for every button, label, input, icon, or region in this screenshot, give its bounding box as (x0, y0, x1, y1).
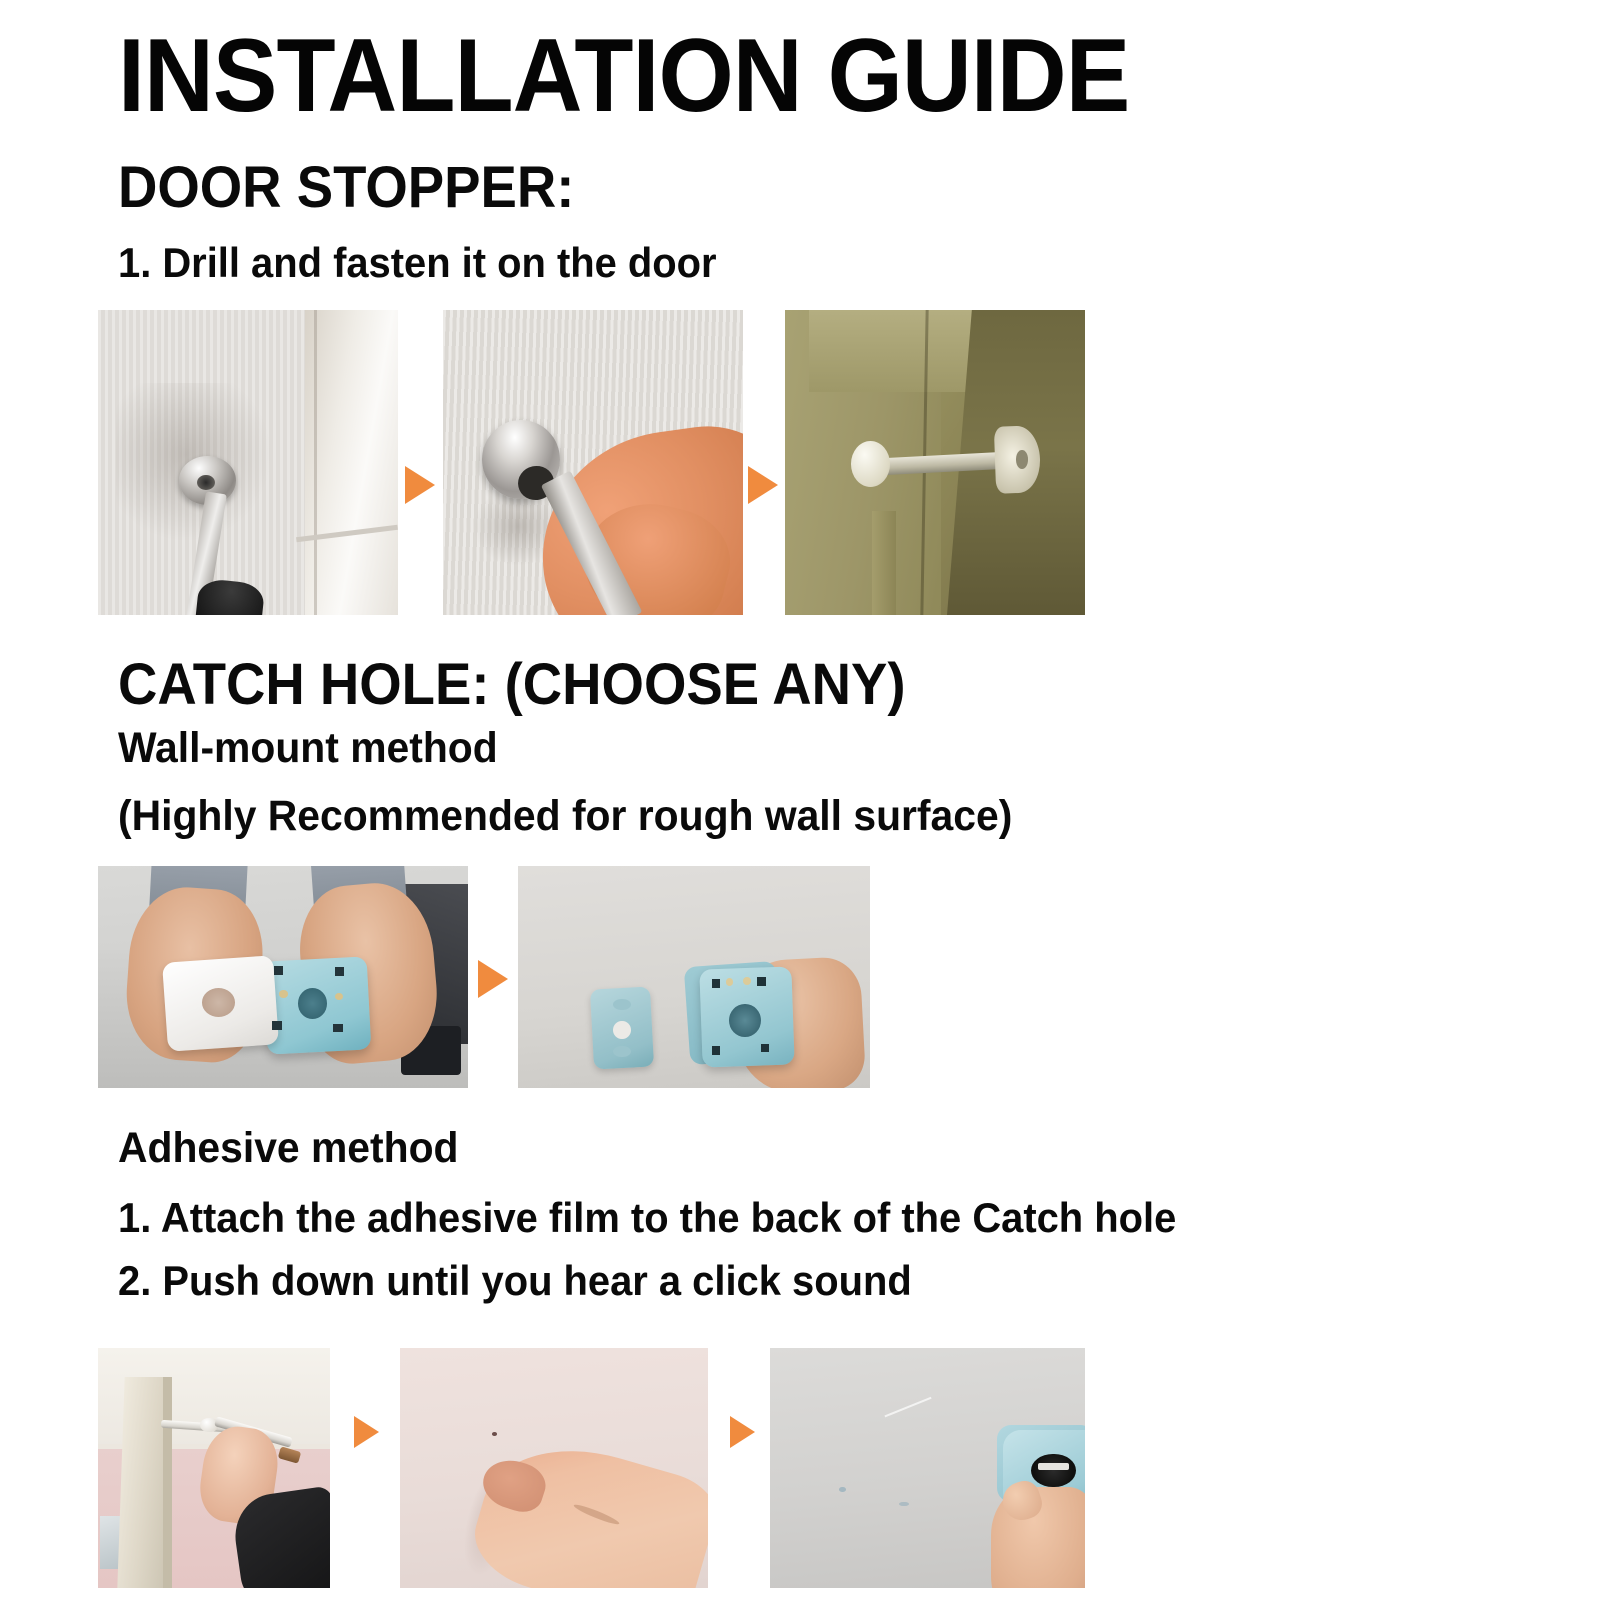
wall-mount-recommendation-note: (Highly Recommended for rough wall surfa… (118, 793, 1012, 839)
adhesive-method-step-1: 1. Attach the adhesive film to the back … (118, 1195, 1176, 1240)
catch-screw (743, 977, 751, 985)
catch-slot (333, 1024, 343, 1033)
stopper-screw-hole (197, 475, 215, 490)
catch-hole-opening (729, 1004, 761, 1037)
photo-tighten-scene (443, 310, 743, 615)
section-heading-catch-hole: CATCH HOLE: (CHOOSE ANY) (118, 655, 905, 716)
catch-hole-latch (1038, 1463, 1070, 1470)
floor-post (872, 511, 896, 615)
wall-scratch (885, 1396, 932, 1417)
photo-finger-pointing-at-mark-on-wall (400, 1348, 708, 1588)
step-arrow-icon (405, 466, 435, 504)
photo-marking-spot-on-wall-with-stopper (98, 1348, 330, 1588)
installation-guide-page: INSTALLATION GUIDE DOOR STOPPER: 1. Dril… (0, 0, 1600, 1600)
photo-marking-scene (98, 1348, 330, 1588)
wall-mount-method-subheading: Wall-mount method (118, 725, 498, 771)
plate-boss (613, 1046, 631, 1057)
door-panel (305, 310, 398, 615)
wall-mark (899, 1502, 908, 1507)
page-title: INSTALLATION GUIDE (118, 22, 1129, 131)
photo-pressing-scene (770, 1348, 1085, 1588)
photo-installed-door-stopper (785, 310, 1085, 615)
catch-slot (274, 966, 284, 975)
photo-wall-plate-and-catch-hole-in-hand (518, 866, 870, 1088)
catch-hole-opening (1031, 1454, 1075, 1488)
photo-wallplate-scene (518, 866, 870, 1088)
photo-pressing-catch-hole-onto-wall (770, 1348, 1085, 1588)
screwdriver-handle (195, 578, 266, 615)
photo-drill-screw-into-door (98, 310, 398, 615)
step-arrow-icon (748, 466, 778, 504)
adhesive-method-heading: Adhesive method (118, 1125, 458, 1171)
catch-slot (757, 977, 765, 986)
photo-drill-scene (98, 310, 398, 615)
step-arrow-icon (354, 1416, 379, 1448)
photo-installed-scene (785, 310, 1085, 615)
step-arrow-icon (478, 960, 508, 998)
plate-center-hole (613, 1021, 631, 1039)
wall-mark (839, 1487, 845, 1492)
photo-hand-tightening-screwdriver (443, 310, 743, 615)
door-edge (163, 1377, 172, 1588)
photo-hands-scene (98, 866, 468, 1088)
door-stopper-step-1: 1. Drill and fasten it on the door (118, 240, 717, 285)
photo-finger-scene (400, 1348, 708, 1588)
white-plate-hole (202, 988, 235, 1017)
catch-screw (279, 990, 288, 998)
stopper-base-hole (1016, 450, 1028, 468)
adhesive-method-step-2: 2. Push down until you hear a click soun… (118, 1258, 912, 1303)
plate-boss (613, 999, 631, 1010)
catch-slot (761, 1044, 769, 1053)
stopper-bumper-tip (851, 441, 890, 487)
catch-slot (712, 1046, 720, 1055)
wall-mark-dot (492, 1432, 497, 1436)
door-edge-line (314, 310, 317, 615)
section-heading-door-stopper: DOOR STOPPER: (118, 158, 574, 219)
catch-slot (712, 979, 720, 988)
step-arrow-icon (730, 1416, 755, 1448)
catch-slot (272, 1021, 282, 1030)
catch-slot (335, 967, 345, 976)
photo-hands-holding-plate-and-catch-hole (98, 866, 468, 1088)
